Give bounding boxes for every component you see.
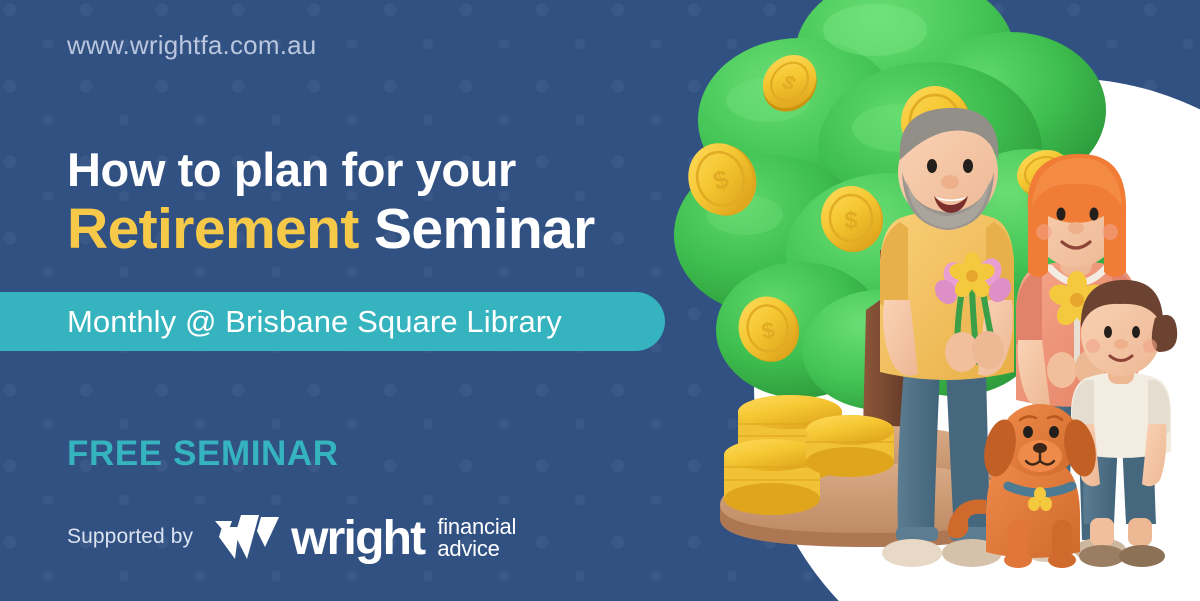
supported-by-label: Supported by: [67, 525, 193, 549]
page-title: How to plan for your Retirement Seminar: [67, 146, 595, 262]
wright-financial-advice-logo[interactable]: wright financial advice: [215, 513, 516, 561]
logo-tagline: financial advice: [437, 516, 516, 561]
event-banner: $ $ $: [0, 0, 1200, 601]
headline-line-1: How to plan for your: [67, 146, 595, 193]
free-seminar-label: FREE SEMINAR: [67, 434, 339, 474]
svg-text:$: $: [844, 207, 858, 234]
headline-rest-word: Seminar: [374, 197, 595, 261]
wright-chevron-mark-icon: [215, 513, 285, 561]
supported-by-row: Supported by wright financial advice: [67, 513, 516, 561]
logo-wordmark: wright: [291, 515, 424, 563]
schedule-text: Monthly @ Brisbane Square Library: [67, 304, 562, 340]
schedule-banner: Monthly @ Brisbane Square Library: [0, 292, 665, 351]
logo-tagline-line-1: financial: [437, 516, 516, 538]
logo-tagline-line-2: advice: [437, 538, 516, 560]
headline-highlight-word: Retirement: [67, 197, 359, 261]
headline-line-2: Retirement Seminar: [67, 198, 595, 262]
website-url[interactable]: www.wrightfa.com.au: [67, 30, 316, 61]
child-figure: [1071, 280, 1177, 567]
